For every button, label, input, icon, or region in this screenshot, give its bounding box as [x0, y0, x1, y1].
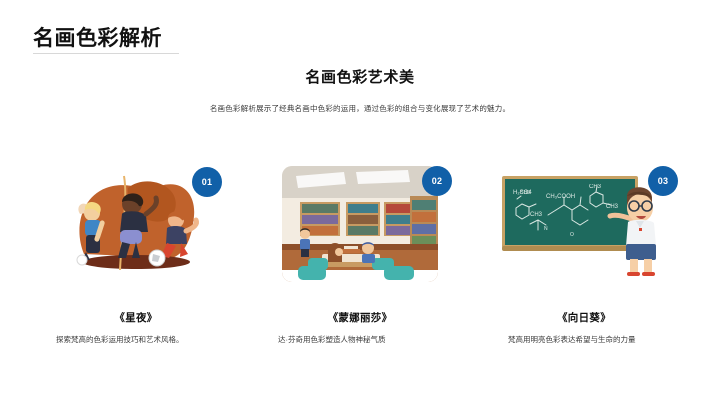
- svg-text:O: O: [570, 232, 574, 238]
- card-item[interactable]: 02 《蒙娜丽莎》 达·芬奇用色彩塑造人物神秘气质: [260, 158, 460, 346]
- card-body: 达·芬奇用色彩塑造人物神秘气质: [274, 334, 446, 346]
- card-badge: 02: [422, 166, 452, 196]
- card-title: 《星夜》: [50, 310, 222, 325]
- svg-text:CH3: CH3: [589, 184, 602, 190]
- page-title: 名画色彩解析: [33, 27, 179, 50]
- card-body: 梵高用明亮色彩表达希望与生命的力量: [498, 334, 670, 346]
- main-heading: 名画色彩艺术美: [0, 66, 720, 87]
- slide-header: 名画色彩解析: [33, 27, 179, 54]
- main-subheading: 名画色彩解析展示了经典名画中色彩的运用，通过色彩的组合与变化展现了艺术的魅力。: [0, 103, 720, 114]
- card-title: 《蒙娜丽莎》: [274, 310, 446, 325]
- svg-text:CH3: CH3: [606, 204, 619, 210]
- svg-text:N: N: [544, 226, 548, 232]
- card-title: 《向日葵》: [498, 310, 670, 325]
- cards-row: 01 《星夜》 探索梵高的色彩运用技巧和艺术风格。: [36, 158, 684, 346]
- slide-canvas: 名画色彩解析 名画色彩艺术美 名画色彩解析展示了经典名画中色彩的运用，通过色彩的…: [0, 0, 720, 405]
- card-item[interactable]: H₂SO4 CH₃COOH CH3 CH3 CH3 CH3 N O: [484, 158, 684, 346]
- card-badge: 01: [192, 167, 222, 197]
- card-item[interactable]: 01 《星夜》 探索梵高的色彩运用技巧和艺术风格。: [36, 158, 236, 346]
- card-caption: 《向日葵》 梵高用明亮色彩表达希望与生命的力量: [484, 310, 684, 346]
- card-caption: 《星夜》 探索梵高的色彩运用技巧和艺术风格。: [36, 310, 236, 346]
- card-body: 探索梵高的色彩运用技巧和艺术风格。: [50, 334, 222, 346]
- card-badge: 03: [648, 166, 678, 196]
- title-underline-divider: [33, 53, 179, 54]
- svg-text:CH3: CH3: [530, 212, 543, 218]
- card-caption: 《蒙娜丽莎》 达·芬奇用色彩塑造人物神秘气质: [260, 310, 460, 346]
- svg-text:CH₃COOH: CH₃COOH: [546, 194, 575, 200]
- svg-text:CH3: CH3: [520, 190, 530, 196]
